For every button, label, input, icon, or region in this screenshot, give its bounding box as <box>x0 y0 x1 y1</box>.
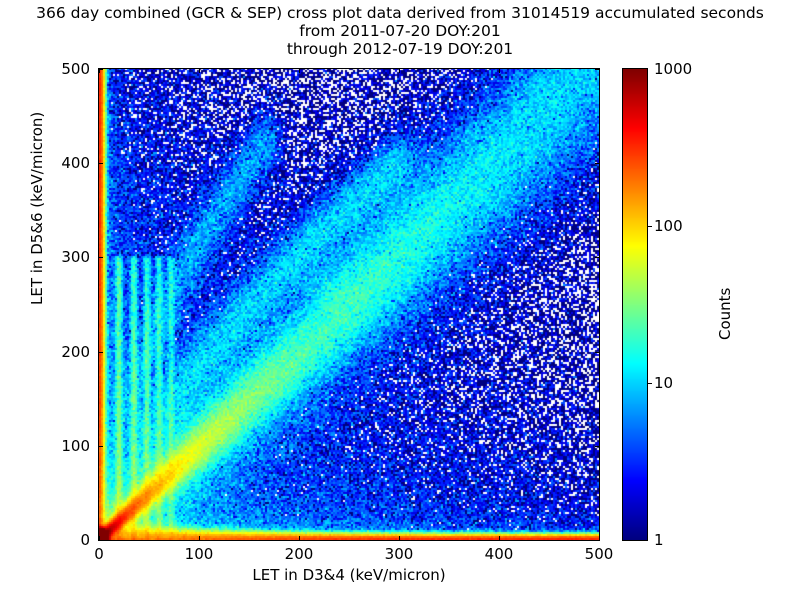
y-tick-200 <box>99 352 103 353</box>
colorbar-tick-100 <box>648 226 652 227</box>
x-tick-300 <box>399 536 400 540</box>
colorbar-tick-10 <box>648 383 652 384</box>
y-tick-500 <box>99 69 103 70</box>
y-tick-right-200 <box>595 352 599 353</box>
x-tick-top-500 <box>599 69 600 73</box>
x-tick-400 <box>499 536 500 540</box>
y-tick-right-0 <box>595 540 599 541</box>
title-line-1: 366 day combined (GCR & SEP) cross plot … <box>0 4 800 22</box>
x-tick-top-300 <box>399 69 400 73</box>
x-axis-label: LET in D3&4 (keV/micron) <box>98 566 600 584</box>
y-tick-right-300 <box>595 257 599 258</box>
x-tick-label-0: 0 <box>94 545 104 563</box>
figure-canvas: 366 day combined (GCR & SEP) cross plot … <box>0 0 800 600</box>
y-tick-label-0: 0 <box>40 531 90 549</box>
y-axis-label: LET in D5&6 (keV/micron) <box>28 112 46 305</box>
y-tick-0 <box>99 540 103 541</box>
x-tick-label-300: 300 <box>385 545 414 563</box>
colorbar-tick-label-1000: 1000 <box>654 60 692 78</box>
colorbar[interactable] <box>622 68 648 541</box>
y-tick-right-100 <box>595 446 599 447</box>
colorbar-tick-label-1: 1 <box>654 531 664 549</box>
chart-title: 366 day combined (GCR & SEP) cross plot … <box>0 4 800 58</box>
plot-area[interactable] <box>98 68 600 541</box>
title-line-3: through 2012-07-19 DOY:201 <box>0 40 800 58</box>
x-tick-label-200: 200 <box>285 545 314 563</box>
density-heatmap <box>99 69 599 540</box>
x-tick-500 <box>599 536 600 540</box>
y-tick-label-100: 100 <box>40 437 90 455</box>
x-tick-label-500: 500 <box>585 545 614 563</box>
x-tick-top-100 <box>199 69 200 73</box>
x-tick-100 <box>199 536 200 540</box>
title-line-2: from 2011-07-20 DOY:201 <box>0 22 800 40</box>
x-tick-top-200 <box>299 69 300 73</box>
y-tick-100 <box>99 446 103 447</box>
y-tick-right-500 <box>595 69 599 70</box>
y-tick-label-300: 300 <box>40 248 90 266</box>
colorbar-label: Counts <box>716 288 734 340</box>
y-tick-label-400: 400 <box>40 154 90 172</box>
colorbar-gradient <box>623 69 647 540</box>
colorbar-tick-label-10: 10 <box>654 374 673 392</box>
y-tick-400 <box>99 163 103 164</box>
x-tick-top-400 <box>499 69 500 73</box>
y-tick-label-500: 500 <box>40 60 90 78</box>
colorbar-tick-label-100: 100 <box>654 217 683 235</box>
x-tick-label-100: 100 <box>185 545 214 563</box>
y-tick-300 <box>99 257 103 258</box>
y-tick-right-400 <box>595 163 599 164</box>
x-tick-200 <box>299 536 300 540</box>
x-tick-label-400: 400 <box>485 545 514 563</box>
y-tick-label-200: 200 <box>40 343 90 361</box>
